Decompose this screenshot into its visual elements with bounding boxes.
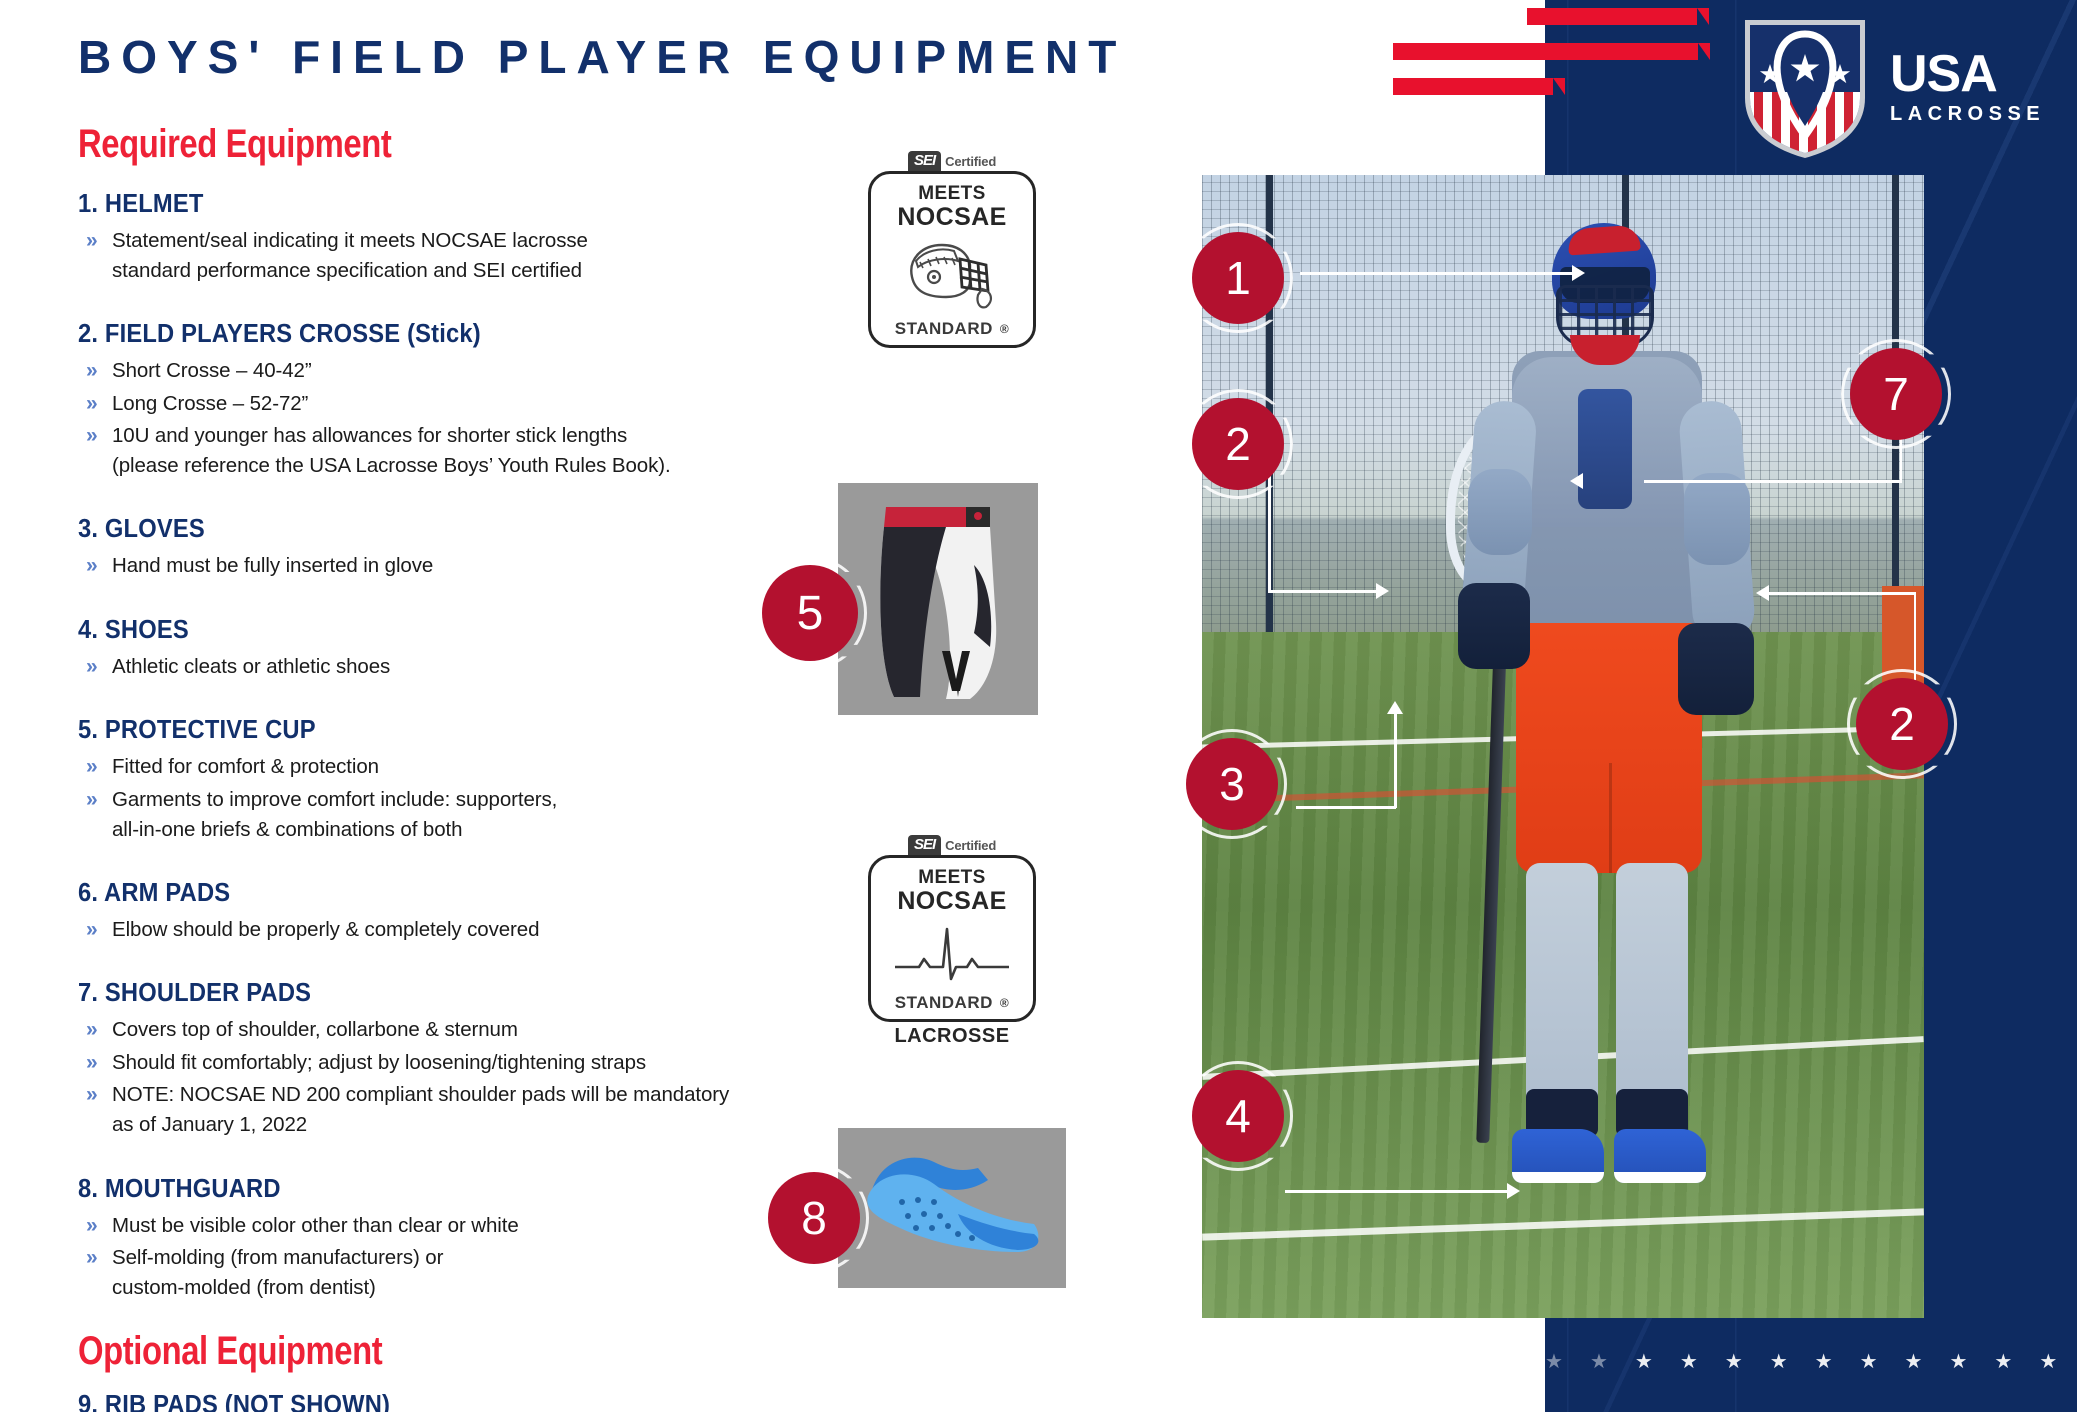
player-arm-pad-left — [1468, 469, 1532, 555]
item-heading: 3. GLOVES — [78, 515, 831, 544]
section-heading-optional: Optional Equipment — [78, 1329, 382, 1374]
player-shoe-left — [1512, 1129, 1604, 1183]
bullet-marker: » — [78, 1048, 112, 1078]
bullet-item: » Fitted for comfort & protection — [78, 752, 888, 782]
bullet-line-2: (please reference the USA Lacrosse Boys’… — [112, 451, 671, 481]
bullet-item: » Garments to improve comfort include: s… — [78, 785, 888, 845]
bullet-text: Must be visible color other than clear o… — [112, 1211, 519, 1241]
seal-nocsae-label: NOCSAE — [897, 888, 1006, 915]
bullet-line-1: Statement/seal indicating it meets NOCSA… — [112, 229, 588, 252]
callout-badge-5[interactable]: 5 — [762, 565, 858, 661]
equipment-item-helmet: 1. HELMET » Statement/seal indicating it… — [78, 190, 888, 286]
equipment-infographic-page: USA LACROSSE BOYS' FIELD PLAYER EQUIPMEN… — [0, 0, 2077, 1412]
player-leg-left — [1526, 863, 1598, 1121]
bullet-marker: » — [78, 421, 112, 451]
bullet-marker: » — [78, 226, 112, 256]
bullet-marker: » — [78, 915, 112, 945]
star-icon: ★ — [1725, 1352, 1743, 1372]
star-icon: ★ — [1905, 1352, 1923, 1372]
player-glove-left — [1458, 583, 1530, 669]
bullet-marker: » — [78, 1080, 112, 1110]
badge-number: 5 — [797, 586, 824, 641]
red-speed-bars — [1385, 0, 1705, 120]
sei-logo-icon: SEI — [908, 835, 941, 855]
bullet-marker: » — [78, 1211, 112, 1241]
equipment-item-shoulder-pads: 7. SHOULDER PADS » Covers top of shoulde… — [78, 979, 888, 1140]
equipment-item-gloves: 3. GLOVES » Hand must be fully inserted … — [78, 515, 888, 581]
bullet-marker: » — [78, 551, 112, 581]
navy-notch-bottom — [1455, 1330, 1545, 1412]
bullet-text: NOTE: NOCSAE ND 200 compliant shoulder p… — [112, 1080, 729, 1140]
item-heading: 9. RIB PADS (NOT SHOWN) — [78, 1391, 831, 1412]
badge-number: 2 — [1225, 417, 1251, 471]
star-icon: ★ — [1545, 1352, 1563, 1372]
star-icon: ★ — [1770, 1352, 1788, 1372]
bullet-text: Short Crosse – 40-42” — [112, 356, 312, 386]
bullet-text: Long Crosse – 52-72” — [112, 389, 308, 419]
bullet-text: Covers top of shoulder, collarbone & ste… — [112, 1015, 518, 1045]
bullet-marker: » — [78, 1015, 112, 1045]
seal-standard-label: STANDARD — [895, 993, 993, 1013]
item-heading: 5. PROTECTIVE CUP — [78, 716, 831, 745]
item-heading: 8. MOUTHGUARD — [78, 1175, 831, 1204]
star-icon: ★ — [1635, 1352, 1653, 1372]
brand-lacrosse: LACROSSE — [1890, 103, 2045, 126]
bullet-item: » Should fit comfortably; adjust by loos… — [78, 1048, 888, 1078]
star-icon: ★ — [1994, 1352, 2012, 1372]
bullet-text: Hand must be fully inserted in glove — [112, 551, 433, 581]
helmet-glyph-icon — [900, 237, 1004, 311]
equipment-item-protective-cup: 5. PROTECTIVE CUP » Fitted for comfort &… — [78, 716, 888, 845]
bullet-marker: » — [78, 785, 112, 815]
bullet-line-1: Self-molding (from manufacturers) or — [112, 1246, 443, 1269]
mouthguard-image — [838, 1128, 1066, 1288]
registered-mark-icon: ® — [1000, 996, 1009, 1010]
seal-standard-label: STANDARD — [895, 319, 993, 339]
bullet-line-2: custom-molded (from dentist) — [112, 1273, 443, 1303]
bullet-text: Statement/seal indicating it meets NOCSA… — [112, 226, 588, 286]
badge-number: 1 — [1225, 251, 1251, 305]
sei-certified-label: Certified — [945, 154, 996, 169]
star-icon: ★ — [1815, 1352, 1833, 1372]
bullet-text: Garments to improve comfort include: sup… — [112, 785, 557, 845]
badge-number: 3 — [1219, 757, 1245, 811]
player-figure — [1450, 223, 1750, 1263]
bullet-line-1: Garments to improve comfort include: sup… — [112, 788, 557, 811]
player-arm-pad-right — [1684, 473, 1750, 565]
bullet-marker: » — [78, 1243, 112, 1273]
bullet-text: Self-molding (from manufacturers) or cus… — [112, 1243, 443, 1303]
bullet-item: » Statement/seal indicating it meets NOC… — [78, 226, 888, 286]
sei-certified-label: Certified — [945, 838, 996, 853]
player-shoe-right — [1614, 1129, 1706, 1183]
equipment-item-arm-pads: 6. ARM PADS » Elbow should be properly &… — [78, 879, 888, 945]
leader-line-1 — [1300, 272, 1586, 276]
bullet-line-2: as of January 1, 2022 — [112, 1110, 729, 1140]
leader-line-3 — [1296, 710, 1402, 810]
bullet-line-2: standard performance specification and S… — [112, 256, 588, 286]
bullet-text: Should fit comfortably; adjust by loosen… — [112, 1048, 646, 1078]
star-icon: ★ — [2039, 1352, 2057, 1372]
item-heading: 4. SHOES — [78, 616, 831, 645]
section-heading-required: Required Equipment — [78, 122, 391, 167]
bullet-item: » Self-molding (from manufacturers) or c… — [78, 1243, 888, 1303]
leader-line-4 — [1285, 1190, 1521, 1194]
star-icon: ★ — [1860, 1352, 1878, 1372]
bullet-text: Elbow should be properly & completely co… — [112, 915, 539, 945]
star-icon: ★ — [1949, 1352, 1967, 1372]
seal-meets-label: MEETS — [918, 868, 985, 888]
bullet-text: Fitted for comfort & protection — [112, 752, 379, 782]
badge-number: 8 — [801, 1191, 827, 1245]
seal-standard-row: STANDARD ® — [895, 319, 1009, 339]
sei-certified-tab: SEI Certified — [900, 148, 1005, 174]
badge-number: 4 — [1225, 1089, 1251, 1143]
bullet-marker: » — [78, 752, 112, 782]
item-heading: 6. ARM PADS — [78, 879, 831, 908]
player-glove-right — [1678, 623, 1754, 715]
badge-number: 2 — [1889, 697, 1915, 751]
equipment-item-rib-pads: 9. RIB PADS (NOT SHOWN) » Covers the rib… — [78, 1391, 888, 1412]
seal-standard-row: STANDARD ® — [895, 993, 1009, 1013]
bullet-item: » Short Crosse – 40-42” — [78, 356, 888, 386]
bullet-marker: » — [78, 652, 112, 682]
item-heading: 7. SHOULDER PADS — [78, 979, 831, 1008]
callout-badge-3[interactable]: 3 — [1186, 738, 1278, 830]
sei-logo-icon: SEI — [908, 151, 941, 171]
player-shorts — [1516, 623, 1702, 873]
bullet-line-1: NOTE: NOCSAE ND 200 compliant shoulder p… — [112, 1083, 729, 1106]
nocsae-lacrosse-seal: SEI Certified MEETS NOCSAE STANDARD ® LA… — [868, 832, 1036, 1048]
bullet-item: » Covers top of shoulder, collarbone & s… — [78, 1015, 888, 1045]
bullet-marker: » — [78, 356, 112, 386]
seal-sublabel: LACROSSE — [868, 1025, 1036, 1048]
bullet-line-1: 10U and younger has allowances for short… — [112, 424, 627, 447]
badge-number: 7 — [1883, 367, 1909, 421]
bullet-item: » NOTE: NOCSAE ND 200 compliant shoulder… — [78, 1080, 888, 1140]
seal-box: MEETS NOCSAE STANDARD ® — [868, 855, 1036, 1022]
usa-lacrosse-shield-icon — [1740, 14, 1870, 162]
section-heading-optional-wrap: Optional Equipment — [78, 1329, 888, 1391]
product-photo-protective-cup — [838, 483, 1038, 715]
page-title: BOYS' FIELD PLAYER EQUIPMENT — [78, 30, 1126, 84]
nocsae-helmet-seal: SEI Certified MEETS NOCSAE STANDARD — [868, 148, 1036, 348]
callout-badge-4[interactable]: 4 — [1192, 1070, 1284, 1162]
bullet-text: 10U and younger has allowances for short… — [112, 421, 671, 481]
speed-bar-2 — [1393, 43, 1698, 60]
ecg-waveform-icon — [891, 921, 1013, 985]
callout-badge-8[interactable]: 8 — [768, 1172, 860, 1264]
bullet-item: » Hand must be fully inserted in glove — [78, 551, 888, 581]
bullet-item: » Elbow should be properly & completely … — [78, 915, 888, 945]
bullet-item: » Long Crosse – 52-72” — [78, 389, 888, 419]
item-heading: 1. HELMET — [78, 190, 831, 219]
helmet-crest — [1567, 225, 1641, 256]
star-band: ★★★★★★★★★★★★★★ — [1545, 1352, 2077, 1372]
star-icon: ★ — [1680, 1352, 1698, 1372]
bullet-item: » 10U and younger has allowances for sho… — [78, 421, 888, 481]
product-photo-mouthguard — [838, 1128, 1066, 1288]
bullet-text: Athletic cleats or athletic shoes — [112, 652, 390, 682]
item-heading: 2. FIELD PLAYERS CROSSE (Stick) — [78, 320, 831, 349]
compression-shorts-image — [838, 483, 1038, 715]
star-icon: ★ — [1590, 1352, 1608, 1372]
leader-line-2a — [1268, 446, 1428, 594]
callout-badge-1[interactable]: 1 — [1192, 232, 1284, 324]
callout-badge-2-head[interactable]: 2 — [1192, 398, 1284, 490]
speed-bar-3 — [1393, 78, 1553, 95]
callout-badge-7[interactable]: 7 — [1850, 348, 1942, 440]
speed-bar-1 — [1527, 8, 1697, 25]
usa-lacrosse-logo: USA LACROSSE — [1740, 14, 2045, 162]
seal-nocsae-label: NOCSAE — [897, 204, 1006, 231]
seal-box: MEETS NOCSAE STANDARD ® — [868, 171, 1036, 348]
usa-lacrosse-wordmark: USA LACROSSE — [1890, 50, 2045, 125]
callout-badge-2-shaft[interactable]: 2 — [1856, 678, 1948, 770]
player-leg-right — [1616, 863, 1688, 1121]
sei-certified-tab: SEI Certified — [900, 832, 1005, 858]
brand-usa: USA — [1890, 50, 2045, 99]
bullet-item: » Athletic cleats or athletic shoes — [78, 652, 888, 682]
bullet-marker: » — [78, 389, 112, 419]
bullet-line-2: all-in-one briefs & combinations of both — [112, 815, 557, 845]
registered-mark-icon: ® — [1000, 322, 1009, 336]
equipment-item-crosse: 2. FIELD PLAYERS CROSSE (Stick) » Short … — [78, 320, 888, 481]
seal-meets-label: MEETS — [918, 184, 985, 204]
